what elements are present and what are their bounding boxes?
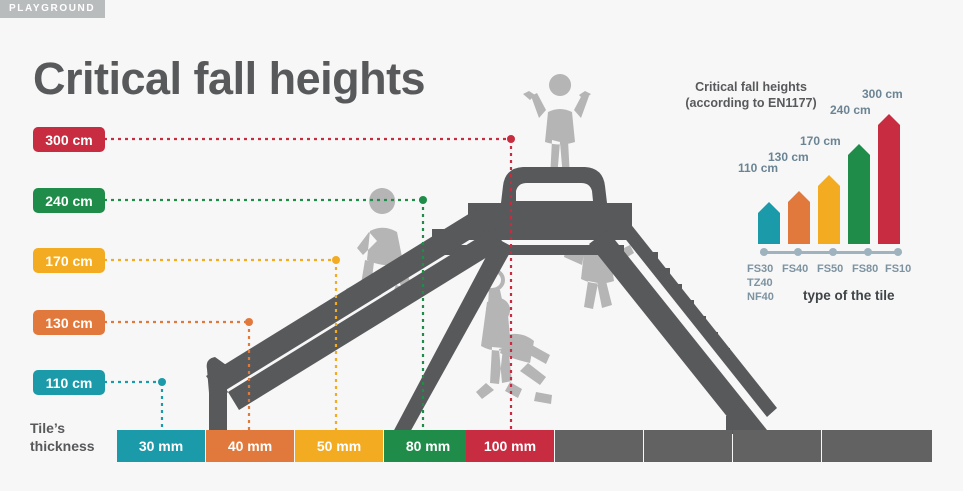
tick-label-fs30: FS30 (747, 263, 773, 275)
height-badge-170[interactable]: 170 cm (33, 248, 105, 273)
tick-label-fs50: FS50 (817, 263, 843, 275)
axis-dot-3 (829, 248, 837, 256)
tiles-caption-line1: Tile’s (30, 420, 65, 436)
tile-30mm[interactable]: 30 mm (117, 430, 205, 462)
bar-130 (788, 191, 810, 244)
height-badge-130[interactable]: 130 cm (33, 310, 105, 335)
bar-300 (878, 114, 900, 244)
tile-empty-3[interactable] (733, 430, 821, 462)
tick-label-tz40: TZ40 (747, 277, 773, 289)
bar-label-240: 240 cm (830, 103, 871, 117)
bar-240 (848, 144, 870, 244)
bar-label-300: 300 cm (862, 87, 903, 101)
height-badge-240[interactable]: 240 cm (33, 188, 105, 213)
tick-label-nf40: NF40 (747, 291, 774, 303)
axis-dot-2 (794, 248, 802, 256)
tile-40mm[interactable]: 40 mm (206, 430, 294, 462)
tick-label-fs40: FS40 (782, 263, 808, 275)
bar-110 (758, 202, 780, 244)
tick-label-fs10: FS10 (885, 263, 911, 275)
tiles-caption-line2: thickness (30, 438, 95, 454)
chart-axis-caption: type of the tile (803, 288, 895, 303)
bar-label-130: 130 cm (768, 150, 809, 164)
bar-170 (818, 175, 840, 244)
tile-50mm[interactable]: 50 mm (295, 430, 383, 462)
tile-empty-1[interactable] (555, 430, 643, 462)
axis-dot-1 (760, 248, 768, 256)
tile-empty-2[interactable] (644, 430, 732, 462)
height-badge-110[interactable]: 110 cm (33, 370, 105, 395)
tick-label-fs80: FS80 (852, 263, 878, 275)
height-badge-300[interactable]: 300 cm (33, 127, 105, 152)
bar-label-170: 170 cm (800, 134, 841, 148)
tiles-thickness-caption: Tile’s thickness (30, 420, 125, 455)
tile-empty-4[interactable] (822, 430, 932, 462)
axis-dot-5 (894, 248, 902, 256)
tile-100mm[interactable]: 100 mm (466, 430, 554, 462)
tile-80mm[interactable]: 80 mm (384, 430, 472, 462)
axis-dot-4 (864, 248, 872, 256)
